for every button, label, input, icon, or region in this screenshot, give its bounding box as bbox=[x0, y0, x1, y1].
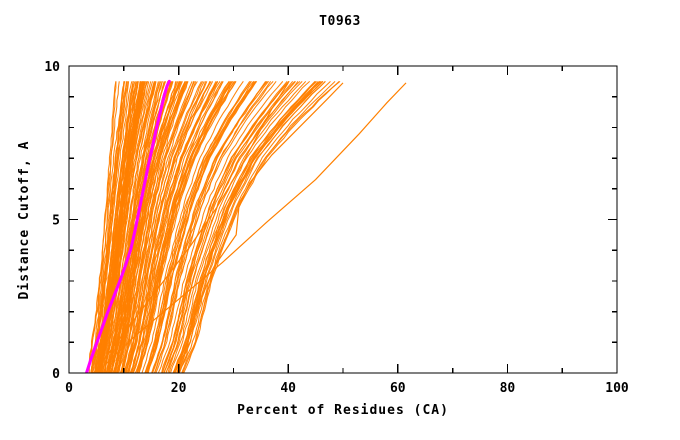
y-axis-tick-labels: 0510 bbox=[44, 60, 60, 382]
x-tick-label: 20 bbox=[171, 381, 187, 396]
distance-cutoff-plot: 020406080100 0510 Percent of Residues (C… bbox=[0, 0, 680, 440]
x-tick-label: 0 bbox=[65, 381, 73, 396]
y-tick-label: 5 bbox=[52, 214, 60, 229]
x-tick-label: 60 bbox=[390, 381, 406, 396]
x-axis-title: Percent of Residues (CA) bbox=[237, 403, 449, 418]
x-tick-label: 80 bbox=[500, 381, 516, 396]
y-tick-label: 10 bbox=[44, 60, 60, 75]
x-tick-label: 100 bbox=[605, 381, 629, 396]
x-axis-tick-labels: 020406080100 bbox=[65, 381, 629, 396]
chart-page: T0963 020406080100 0510 Percent of Resid… bbox=[0, 0, 680, 440]
x-tick-label: 40 bbox=[280, 381, 296, 396]
y-tick-label: 0 bbox=[52, 367, 60, 382]
y-axis-title: Distance Cutoff, A bbox=[17, 141, 32, 300]
